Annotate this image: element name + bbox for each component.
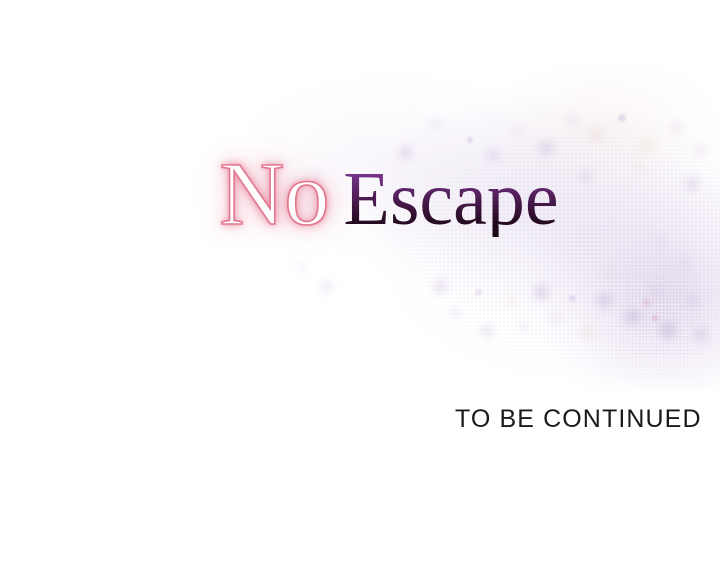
- bokeh-dot: [672, 122, 681, 131]
- bokeh-dot: [590, 129, 602, 141]
- bokeh-dot: [583, 327, 594, 338]
- bokeh-dot: [660, 322, 676, 338]
- bokeh-dot: [507, 295, 517, 305]
- bokeh-dot: [604, 268, 613, 277]
- bokeh-dot: [643, 299, 650, 306]
- bokeh-dot: [598, 294, 611, 307]
- comic-panel-page: NoEscape TO BE CONTINUED: [0, 0, 720, 582]
- bokeh-dot: [568, 116, 577, 125]
- bokeh-dot: [694, 328, 707, 341]
- title-word-no: No: [219, 150, 329, 240]
- bokeh-dot: [618, 114, 626, 122]
- to-be-continued-label: TO BE CONTINUED: [455, 405, 702, 434]
- title-word-escape: Escape: [343, 161, 558, 237]
- bokeh-dot: [434, 280, 447, 293]
- bokeh-dot: [552, 314, 561, 323]
- bokeh-dot: [321, 281, 332, 292]
- bokeh-dot: [513, 127, 520, 134]
- bokeh-dot: [625, 309, 640, 324]
- title-inner: NoEscape: [219, 150, 558, 240]
- bokeh-dot: [569, 295, 576, 302]
- bokeh-dot: [467, 137, 473, 143]
- bokeh-dot: [534, 285, 548, 299]
- bokeh-dot: [475, 289, 482, 296]
- bokeh-dot: [687, 295, 698, 306]
- bokeh-dot: [298, 262, 306, 270]
- title-block: NoEscape: [0, 150, 720, 260]
- bokeh-dot: [481, 325, 493, 337]
- bokeh-dot: [520, 322, 528, 330]
- background-artwork: [0, 0, 720, 582]
- bokeh-dot: [651, 287, 661, 297]
- bokeh-dot: [451, 308, 460, 317]
- bokeh-dot: [432, 120, 440, 128]
- bokeh-dot: [652, 315, 658, 321]
